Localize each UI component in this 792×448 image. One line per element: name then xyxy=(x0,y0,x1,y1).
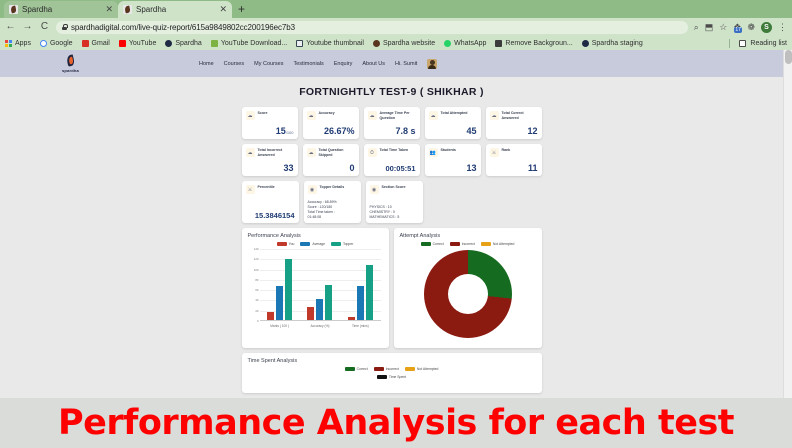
performance-analysis-chart: Performance Analysis You Average xyxy=(242,228,389,348)
page-title: FORTNIGHTLY TEST-9 ( SHIKHAR ) xyxy=(0,86,783,98)
accuracy-icon: ☁ xyxy=(307,111,316,120)
legend-item-you[interactable]: You xyxy=(277,242,295,246)
stats-grid: ☁ Score 15/100 ☁ Accuracy xyxy=(242,107,542,223)
stat-card-section-score[interactable]: ◉ Section Score PHYSICS : 10 CHEMISTRY :… xyxy=(366,181,423,223)
time-spent-axis-legend: Time Spent xyxy=(248,375,536,379)
legend-swatch xyxy=(481,242,491,246)
gmail-icon xyxy=(82,40,89,47)
time-spent-analysis-chart: Time Spent Analysis Correct Incorrect xyxy=(242,353,542,393)
attempted-icon: ☁ xyxy=(429,111,438,120)
rank-icon: ⚔ xyxy=(490,148,499,157)
extensions-count-badge: 17 xyxy=(734,27,742,33)
nav-item-user-greeting[interactable]: Hi. Sumit xyxy=(395,61,417,67)
legend-swatch xyxy=(421,242,431,246)
x-tick: Time (mins) xyxy=(340,324,380,328)
stat-card-percentile[interactable]: ⚔ Percentile 15.3846154 xyxy=(242,181,299,223)
stat-card-total-incorrect[interactable]: ☁ Total Incorrect Answered 33 xyxy=(242,144,298,176)
legend-label: Average xyxy=(312,242,325,246)
browser-tab-2[interactable]: Spardha ✕ xyxy=(118,1,232,18)
bar-average[interactable] xyxy=(276,286,283,320)
caption-text: Performance Analysis for each test xyxy=(58,403,734,443)
students-icon: 👥 xyxy=(429,148,438,157)
legend-item-correct[interactable]: Correct xyxy=(345,367,368,371)
legend-item-correct[interactable]: Correct xyxy=(421,242,444,246)
browser-tab-1[interactable]: Spardha ✕ xyxy=(4,1,118,18)
stats-row-3: ⚔ Percentile 15.3846154 ◉ Topper Details xyxy=(242,181,542,223)
page-scrollbar[interactable] xyxy=(783,50,792,398)
legend-item-incorrect[interactable]: Incorrect xyxy=(450,242,475,246)
stat-card-students[interactable]: 👥 Students 13 xyxy=(425,144,481,176)
bookmark-google[interactable]: Google xyxy=(40,40,73,47)
bookmark-youtube-thumbnail[interactable]: Youtube thumbnail xyxy=(296,40,364,47)
back-arrow-icon[interactable]: ← xyxy=(5,22,16,32)
y-tick: 0 xyxy=(257,319,259,323)
stat-label: Score xyxy=(258,111,268,116)
bookmark-remove-background[interactable]: Remove Backgroun... xyxy=(495,40,572,47)
correct-icon: ☁ xyxy=(490,111,499,120)
avatar[interactable] xyxy=(427,59,437,69)
stat-card-total-time-taken[interactable]: ⏱ Total Time Taken 00:05:51 xyxy=(364,144,420,176)
stat-value: 15.3846154 xyxy=(246,211,295,220)
legend-swatch xyxy=(377,375,387,379)
donut-wrapper xyxy=(400,250,536,338)
bookmark-youtube[interactable]: YouTube xyxy=(119,40,157,47)
score-number: 15 xyxy=(276,126,286,136)
bookmark-label: Google xyxy=(50,40,73,47)
chart-legend: Correct Incorrect Not Attempted xyxy=(400,242,536,246)
google-icon xyxy=(40,40,47,47)
spardha-icon xyxy=(373,40,380,47)
bookmark-label: Spardha website xyxy=(383,40,435,47)
bookmark-whatsapp[interactable]: WhatsApp xyxy=(444,40,486,47)
reading-list-icon xyxy=(739,40,746,47)
legend-label: Correct xyxy=(433,242,444,246)
caption-banner: Performance Analysis for each test xyxy=(0,398,792,448)
divider xyxy=(729,39,730,48)
y-tick: 40 xyxy=(255,298,258,302)
stat-value: 12 xyxy=(490,126,538,136)
stat-label: Total Correct Answered xyxy=(502,111,538,120)
stat-card-score[interactable]: ☁ Score 15/100 xyxy=(242,107,298,139)
y-tick: 120 xyxy=(254,257,259,261)
legend-swatch xyxy=(374,367,384,371)
stat-card-total-skipped[interactable]: ☁ Total Question Skipped 0 xyxy=(303,144,359,176)
bookmark-label: Youtube thumbnail xyxy=(306,40,364,47)
download-icon xyxy=(211,40,218,47)
stat-value: 0 xyxy=(307,163,355,173)
legend-label: Correct xyxy=(357,367,368,371)
stat-value: 45 xyxy=(429,126,477,136)
whatsapp-icon xyxy=(444,40,451,47)
stat-card-accuracy[interactable]: ☁ Accuracy 26.67% xyxy=(303,107,359,139)
nav-item-courses[interactable]: Courses xyxy=(224,61,244,67)
browser-toolbar: ← → C spardhadigital.com/live-quiz-repor… xyxy=(0,18,792,36)
legend-label: Time Spent xyxy=(389,375,406,379)
bookmarks-bar: Apps Google Gmail YouTube Spardha YouTub… xyxy=(0,36,792,50)
stat-card-rank[interactable]: ⚔ Rank 11 xyxy=(486,144,542,176)
stat-label: Total Attempted xyxy=(441,111,468,116)
bar-groups xyxy=(260,249,381,320)
stat-label: Total Incorrect Answered xyxy=(258,148,294,157)
stat-label: Topper Details xyxy=(320,185,345,190)
nav-item-my-courses[interactable]: My Courses xyxy=(254,61,283,67)
stat-value: 7.8 s xyxy=(368,126,416,136)
topper-details-list: Accuracy : 68.89% Score : 120/180 Total … xyxy=(308,200,357,220)
score-icon: ☁ xyxy=(246,111,255,120)
bar-topper[interactable] xyxy=(325,285,332,320)
zoom-search-icon[interactable]: ⌕ xyxy=(694,23,699,32)
legend-swatch xyxy=(405,367,415,371)
bar-you[interactable] xyxy=(348,317,355,320)
x-tick: Marks ( 100 ) xyxy=(260,324,300,328)
stat-label: Section Score xyxy=(382,185,406,190)
y-tick: 100 xyxy=(254,268,259,272)
section-icon: ◉ xyxy=(370,185,379,194)
report-content: FORTNIGHTLY TEST-9 ( SHIKHAR ) ☁ Score 1… xyxy=(0,77,783,393)
legend-item-not-attempted[interactable]: Not Attempted xyxy=(481,242,515,246)
bar-topper[interactable] xyxy=(366,265,373,320)
stat-card-total-attempted[interactable]: ☁ Total Attempted 45 xyxy=(425,107,481,139)
legend-swatch xyxy=(331,242,341,246)
bookmark-spardha-staging[interactable]: Spardha staging xyxy=(582,40,643,47)
tab-strip: Spardha ✕ Spardha ✕ + xyxy=(0,0,792,18)
legend-label: Not Attempted xyxy=(493,242,515,246)
score-denominator: /100 xyxy=(286,130,294,135)
page-content: spardha Home Courses My Courses Testimon… xyxy=(0,50,783,398)
legend-item-topper[interactable]: Topper xyxy=(331,242,353,246)
bookmark-label: Spardha staging xyxy=(592,40,643,47)
bar-average[interactable] xyxy=(357,286,364,321)
nav-item-about-us[interactable]: About Us xyxy=(362,61,385,67)
legend-item-incorrect[interactable]: Incorrect xyxy=(374,367,399,371)
attempt-analysis-chart: Attempt Analysis Correct Incorrect xyxy=(394,228,542,348)
close-icon[interactable]: ✕ xyxy=(105,5,113,14)
x-axis-line xyxy=(260,320,381,321)
bookmark-apps[interactable]: Apps xyxy=(5,40,31,47)
puzzle-extension-icon[interactable]: ❁ xyxy=(747,23,755,32)
stat-value: 33 xyxy=(246,163,294,173)
legend-item-time-spent: Time Spent xyxy=(377,375,406,379)
site-logo[interactable]: spardha xyxy=(62,55,79,73)
forward-arrow-icon[interactable]: → xyxy=(22,22,33,32)
address-bar[interactable]: spardhadigital.com/live-quiz-report/615a… xyxy=(56,21,688,34)
bar-group-time xyxy=(340,249,380,320)
stat-card-total-correct[interactable]: ☁ Total Correct Answered 12 xyxy=(486,107,542,139)
bookmark-youtube-download[interactable]: YouTube Download... xyxy=(211,40,287,47)
legend-swatch xyxy=(450,242,460,246)
y-axis: 140 120 100 80 60 40 20 0 xyxy=(248,249,260,321)
topper-icon: ◉ xyxy=(308,185,317,194)
donut-chart[interactable] xyxy=(424,250,512,338)
chart-title: Time Spent Analysis xyxy=(248,358,536,364)
chart-legend: You Average Topper xyxy=(248,242,383,246)
site-header: spardha Home Courses My Courses Testimon… xyxy=(0,50,783,77)
nav-item-home[interactable]: Home xyxy=(199,61,214,67)
chart-legend: Correct Incorrect Not Attempted xyxy=(248,367,536,371)
spardha-favicon-icon xyxy=(123,5,132,14)
brand-name: spardha xyxy=(62,68,79,73)
charts-row: Performance Analysis You Average xyxy=(242,228,542,348)
x-axis-labels: Marks ( 100 ) Accuracy (%) Time (mins) xyxy=(260,324,381,328)
bookmark-label: Gmail xyxy=(92,40,110,47)
bar-plot-area: 140 120 100 80 60 40 20 0 xyxy=(260,249,381,321)
chrome-menu-icon[interactable]: ⋮ xyxy=(778,23,787,32)
site-navigation: Home Courses My Courses Testimonials Enq… xyxy=(199,59,437,69)
tab-title: Spardha xyxy=(22,5,101,14)
legend-label: Incorrect xyxy=(462,242,475,246)
reading-list-label: Reading list xyxy=(750,40,787,47)
stats-row-1: ☁ Score 15/100 ☁ Accuracy xyxy=(242,107,542,139)
stat-card-topper-details[interactable]: ◉ Topper Details Accuracy : 68.89% Score… xyxy=(304,181,361,223)
bar-average[interactable] xyxy=(316,299,323,320)
nav-item-testimonials[interactable]: Testimonials xyxy=(293,61,323,67)
legend-swatch xyxy=(345,367,355,371)
bookmark-gmail[interactable]: Gmail xyxy=(82,40,110,47)
page-viewport: spardha Home Courses My Courses Testimon… xyxy=(0,50,792,398)
y-tick: 60 xyxy=(255,288,258,292)
nav-item-enquiry[interactable]: Enquiry xyxy=(334,61,353,67)
close-icon[interactable]: ✕ xyxy=(219,5,227,14)
skipped-icon: ☁ xyxy=(307,148,316,157)
stat-label: Accuracy xyxy=(319,111,335,116)
chart-title: Attempt Analysis xyxy=(400,233,536,239)
topper-time-value: 01:48:08 xyxy=(308,215,357,220)
stat-label: Total Question Skipped xyxy=(319,148,355,157)
lock-icon xyxy=(62,24,67,30)
stat-value: 00:05:51 xyxy=(368,164,416,173)
bookmark-label: WhatsApp xyxy=(454,40,486,47)
stat-label: Average Time Per Question xyxy=(380,111,416,120)
spardha-icon xyxy=(165,40,172,47)
stat-card-avg-time-per-question[interactable]: ☁ Average Time Per Question 7.8 s xyxy=(364,107,420,139)
clock-icon: ☁ xyxy=(368,111,377,120)
stat-value: 13 xyxy=(429,163,477,173)
reading-list-button[interactable]: Reading list xyxy=(739,40,787,47)
legend-label: You xyxy=(289,242,295,246)
spardha-favicon-icon xyxy=(9,5,18,14)
stat-label: Total Time Taken xyxy=(380,148,409,153)
spardha-flame-logo-icon xyxy=(64,55,77,68)
bookmark-label: Spardha xyxy=(175,40,201,47)
bookmark-star-icon[interactable]: ☆ xyxy=(719,23,727,32)
reload-icon[interactable]: C xyxy=(39,22,50,32)
remove-bg-icon xyxy=(495,40,502,47)
incorrect-icon: ☁ xyxy=(246,148,255,157)
timer-icon: ⏱ xyxy=(368,148,377,157)
apps-grid-icon xyxy=(5,40,12,47)
y-tick: 20 xyxy=(255,309,258,313)
bookmark-label: Apps xyxy=(15,40,31,47)
legend-swatch xyxy=(300,242,310,246)
stats-row-2: ☁ Total Incorrect Answered 33 ☁ Total Qu… xyxy=(242,144,542,176)
toolbar-icons: ⌕ ⬒ ☆ ❖ 17 ❁ S ⋮ xyxy=(694,22,787,33)
stat-label: Students xyxy=(441,148,456,153)
y-tick: 80 xyxy=(255,278,258,282)
stat-value: 11 xyxy=(490,163,538,173)
tab-title: Spardha xyxy=(136,5,215,14)
section-mathematics: MATHEMATICS : 5 xyxy=(370,215,419,220)
cast-icon[interactable]: ⬒ xyxy=(705,23,714,32)
percentile-icon: ⚔ xyxy=(246,185,255,194)
browser-window: Spardha ✕ Spardha ✕ + ← → C spardhadigit… xyxy=(0,0,792,398)
bar-you[interactable] xyxy=(267,312,274,320)
bookmark-label: YouTube xyxy=(129,40,157,47)
bookmark-spardha[interactable]: Spardha xyxy=(165,40,201,47)
bookmark-spardha-website[interactable]: Spardha website xyxy=(373,40,435,47)
stat-value: 15/100 xyxy=(246,126,294,136)
spardha-icon xyxy=(582,40,589,47)
legend-label: Topper xyxy=(343,242,353,246)
url-text: spardhadigital.com/live-quiz-report/615a… xyxy=(71,23,295,32)
bar-you[interactable] xyxy=(307,307,314,320)
youtube-icon xyxy=(119,40,126,47)
new-tab-button[interactable]: + xyxy=(238,2,245,16)
section-score-list: PHYSICS : 10 CHEMISTRY : 0 MATHEMATICS :… xyxy=(370,205,419,220)
stat-label: Percentile xyxy=(258,185,275,190)
scrollbar-thumb[interactable] xyxy=(785,50,792,64)
stat-label: Rank xyxy=(502,148,511,153)
bar-group-accuracy xyxy=(300,249,340,320)
legend-swatch xyxy=(277,242,287,246)
bookmark-label: YouTube Download... xyxy=(221,40,287,47)
profile-avatar[interactable]: S xyxy=(761,22,772,33)
stat-value: 26.67% xyxy=(307,126,355,136)
thumbnail-icon xyxy=(296,40,303,47)
y-tick: 140 xyxy=(254,247,259,251)
legend-label: Not Attempted xyxy=(417,367,439,371)
extensions-badge-icon[interactable]: ❖ 17 xyxy=(733,23,741,32)
legend-label: Incorrect xyxy=(386,367,399,371)
bar-topper[interactable] xyxy=(285,259,292,320)
legend-item-average[interactable]: Average xyxy=(300,242,325,246)
legend-item-not-attempted[interactable]: Not Attempted xyxy=(405,367,439,371)
bookmark-label: Remove Backgroun... xyxy=(505,40,572,47)
bar-group-marks xyxy=(260,249,300,320)
x-tick: Accuracy (%) xyxy=(300,324,340,328)
chart-title: Performance Analysis xyxy=(248,233,383,239)
